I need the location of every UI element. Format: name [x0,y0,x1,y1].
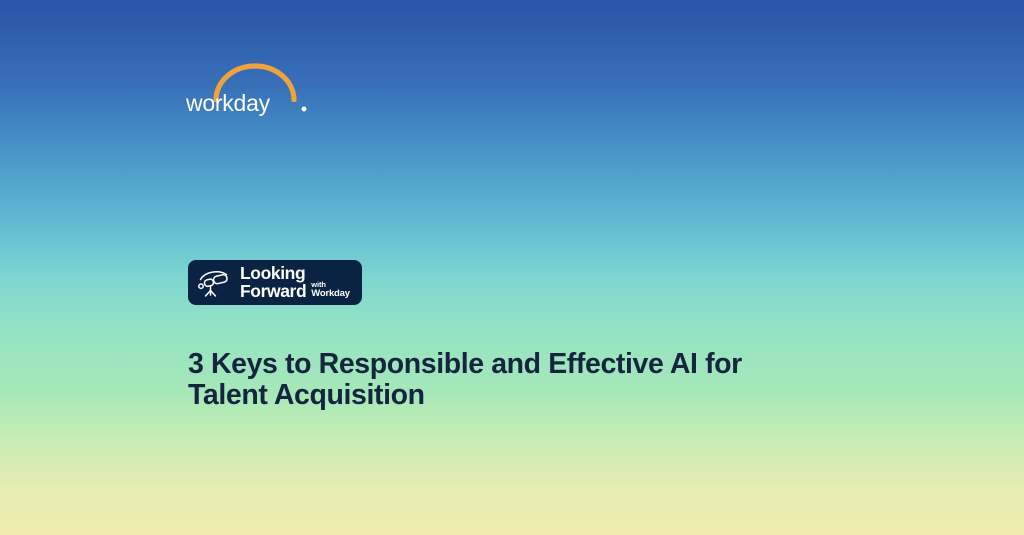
badge-sub-workday: Workday [311,289,350,299]
looking-forward-badge: Looking Forward with Workday [188,260,362,305]
telescope-icon [197,268,231,298]
presentation-slide: workday Looking Forward with Workday [0,0,1024,535]
badge-text-group: Looking Forward with Workday [240,265,350,300]
slide-title: 3 Keys to Responsible and Effective AI f… [188,349,788,411]
workday-logo: workday [186,62,316,117]
badge-line-forward: Forward [240,283,306,300]
badge-subtext: with Workday [311,281,350,299]
workday-wordmark: workday [186,90,316,118]
svg-text:workday: workday [186,90,271,116]
badge-line-looking: Looking [240,265,306,282]
badge-headline: Looking Forward [240,265,306,300]
